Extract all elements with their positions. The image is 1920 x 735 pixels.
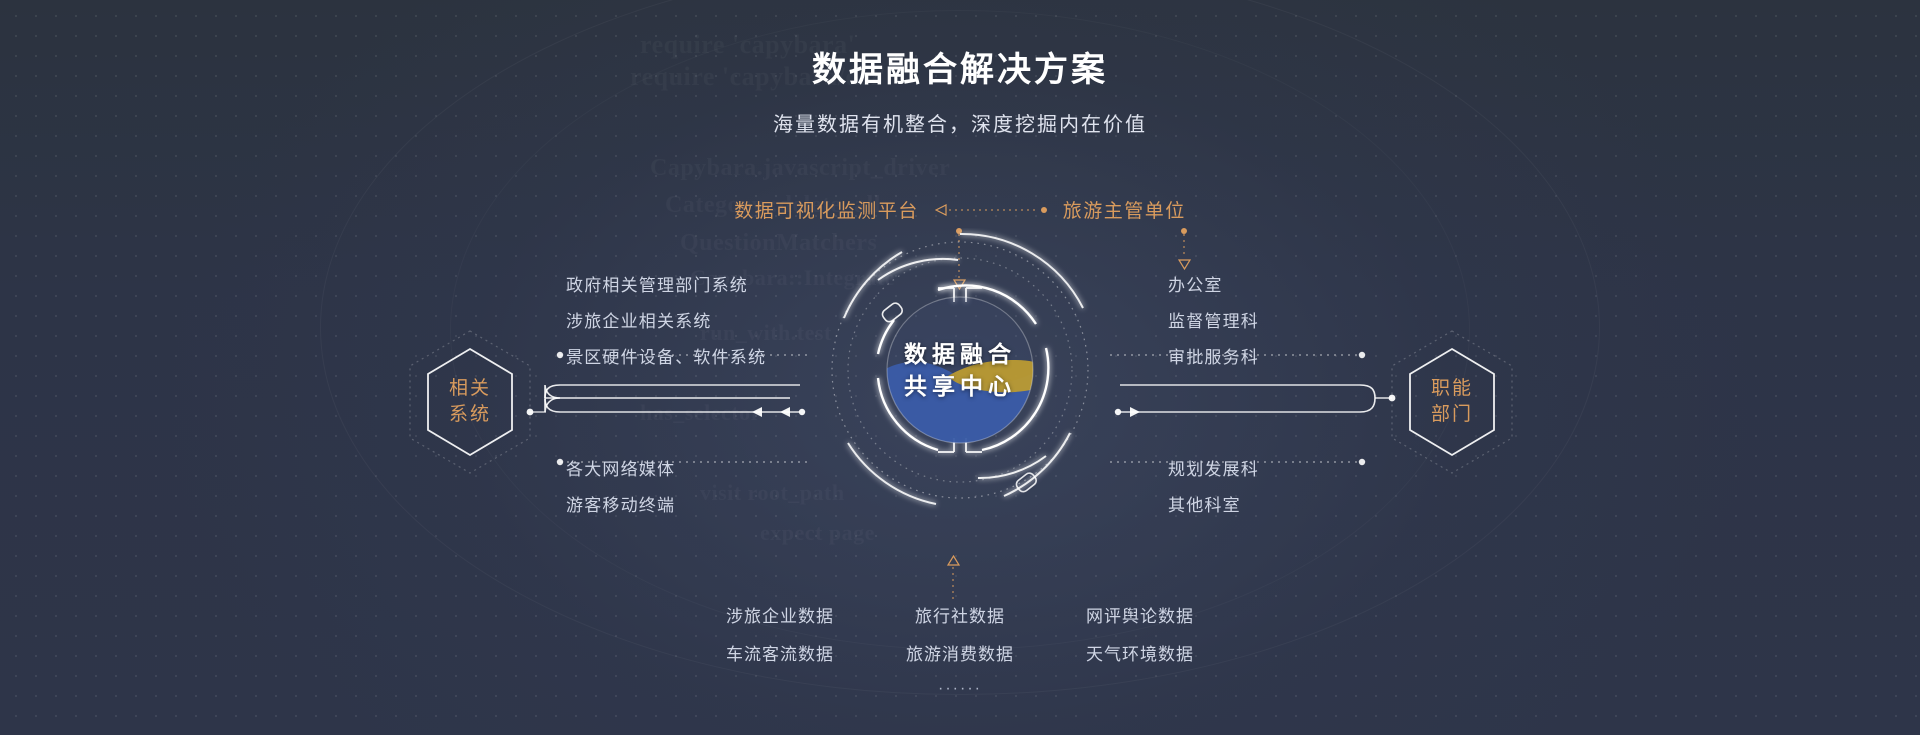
top-node-row: 数据可视化监测平台 旅游主管单位 <box>0 196 1920 223</box>
hexagon-left-label: 相关 系统 <box>404 376 536 428</box>
hub-label: 数据融合 共享中心 <box>818 338 1102 402</box>
right-departments-upper: 办公室监督管理科审批服务科 <box>1168 268 1259 376</box>
left-sources-upper: 政府相关管理部门系统涉旅企业相关系统景区硬件设备、软件系统 <box>566 268 766 376</box>
left-source-item-lower-0[interactable]: 各大网络媒体 <box>566 452 675 488</box>
bottom-data-cell-1-2[interactable]: 天气环境数据 <box>1070 636 1210 674</box>
bottom-data-cell-0-2[interactable]: 网评舆论数据 <box>1070 598 1210 636</box>
bottom-data-ellipsis: ······ <box>938 680 982 698</box>
bottom-data-row: 涉旅企业数据旅行社数据网评舆论数据 <box>710 598 1210 636</box>
hexagon-right-line1: 职能 <box>1386 376 1518 402</box>
bottom-data-grid: 涉旅企业数据旅行社数据网评舆论数据车流客流数据旅游消费数据天气环境数据·····… <box>0 598 1920 698</box>
left-source-item-1[interactable]: 涉旅企业相关系统 <box>566 304 766 340</box>
hexagon-right-line2: 部门 <box>1386 402 1518 428</box>
background-code-line: Capybara.javascript_driver <box>650 155 950 182</box>
page-title: 数据融合解决方案 <box>0 42 1920 91</box>
dotted-line <box>953 567 954 599</box>
hexagon-left-line2: 系统 <box>404 402 536 428</box>
background-code-line: expect page <box>760 520 875 546</box>
bottom-data-to-hub-connector <box>947 555 959 599</box>
left-source-item-2[interactable]: 景区硬件设备、软件系统 <box>566 340 766 376</box>
label-tourism-authority[interactable]: 旅游主管单位 <box>1063 196 1186 223</box>
right-department-item-0[interactable]: 办公室 <box>1168 268 1259 304</box>
platform-authority-connector <box>935 204 1047 216</box>
bottom-data-row: 车流客流数据旅游消费数据天气环境数据 <box>710 636 1210 674</box>
right-department-item-lower-1[interactable]: 其他科室 <box>1168 488 1259 524</box>
page-subtitle: 海量数据有机整合，深度挖掘内在价值 <box>0 108 1920 137</box>
bottom-data-cell-0-1[interactable]: 旅行社数据 <box>890 598 1030 636</box>
left-sources-lower: 各大网络媒体游客移动终端 <box>566 452 675 524</box>
bottom-data-cell-0-0[interactable]: 涉旅企业数据 <box>710 598 850 636</box>
bottom-data-cell-1-0[interactable]: 车流客流数据 <box>710 636 850 674</box>
left-source-item-lower-1[interactable]: 游客移动终端 <box>566 488 675 524</box>
bottom-data-cell-1-1[interactable]: 旅游消费数据 <box>890 636 1030 674</box>
authority-to-department-connector <box>1178 228 1190 270</box>
hexagon-functional-departments[interactable]: 职能 部门 <box>1386 327 1518 477</box>
dotted-line <box>949 209 1039 210</box>
connector-dot <box>1041 207 1047 213</box>
left-source-item-0[interactable]: 政府相关管理部门系统 <box>566 268 766 304</box>
label-visualization-platform[interactable]: 数据可视化监测平台 <box>734 196 919 223</box>
right-department-item-1[interactable]: 监督管理科 <box>1168 304 1259 340</box>
infographic-stage: require 'capybara'require 'capybara/dsl'… <box>0 0 1920 735</box>
hexagon-related-systems[interactable]: 相关 系统 <box>404 327 536 477</box>
right-department-item-lower-0[interactable]: 规划发展科 <box>1168 452 1259 488</box>
hub-line2: 共享中心 <box>818 370 1102 402</box>
hexagon-right-label: 职能 部门 <box>1386 376 1518 428</box>
hub-line1: 数据融合 <box>818 338 1102 370</box>
background-code-line: has_selector <box>640 400 761 426</box>
hexagon-left-line1: 相关 <box>404 376 536 402</box>
central-hub[interactable]: 数据融合 共享中心 <box>818 228 1102 512</box>
right-department-item-2[interactable]: 审批服务科 <box>1168 340 1259 376</box>
dotted-line <box>1184 234 1185 258</box>
right-departments-lower: 规划发展科其他科室 <box>1168 452 1259 524</box>
